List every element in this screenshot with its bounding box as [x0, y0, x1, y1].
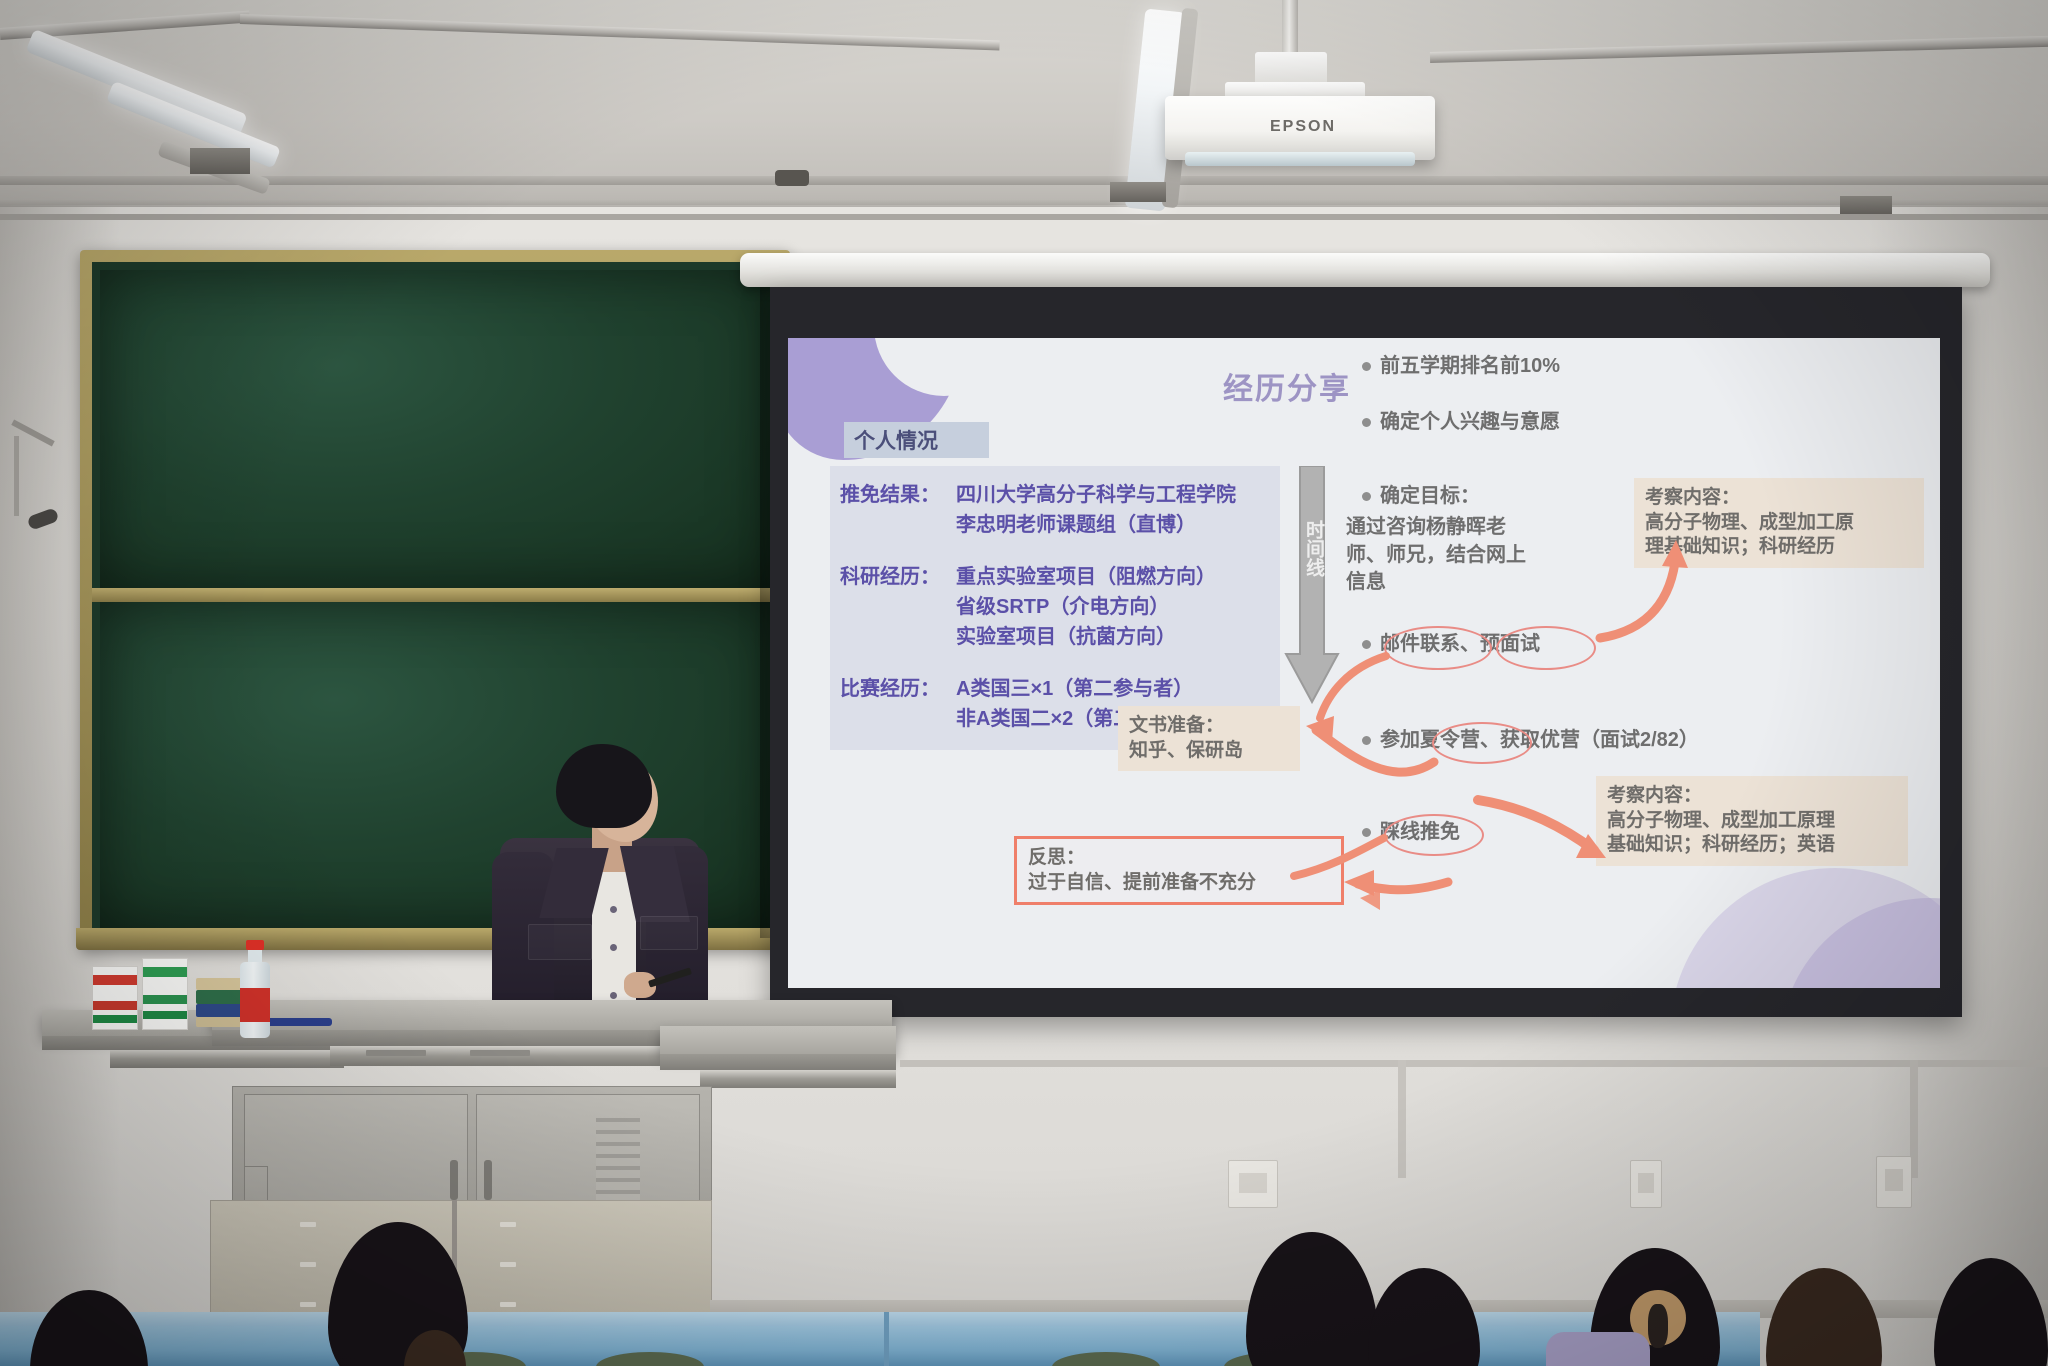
wall-outlet-center[interactable] [1228, 1160, 1278, 1208]
wall-outlet-center-socket [1239, 1173, 1267, 1193]
chalk-box-green-band-mid [143, 995, 187, 1004]
chalk-box-red-band-mid [93, 1001, 137, 1010]
chalk-box-red [92, 966, 138, 1030]
wall-outlet-far-right-socket [1885, 1169, 1903, 1191]
water-bottle [238, 940, 272, 1038]
wall-top-trim [0, 214, 2048, 220]
screen-roller-case [740, 253, 1990, 287]
filing-cabinet-handle-3[interactable] [300, 1302, 316, 1307]
chalk-box-green-band-bot [143, 1011, 187, 1019]
slide-arrows-layer [788, 338, 1940, 988]
filing-cabinet-handle-6[interactable] [500, 1262, 516, 1267]
presenter-hair [556, 744, 652, 828]
podium-slot-a [366, 1050, 426, 1056]
podium-rail-left [110, 1050, 344, 1068]
projector-lens [1185, 152, 1415, 166]
audience-shoulder-purple [1546, 1332, 1650, 1366]
presenter-button-2 [610, 944, 617, 951]
wall-outlet-right[interactable] [1630, 1160, 1662, 1208]
podium-slot-b [470, 1050, 530, 1056]
ceiling-sensor [775, 170, 809, 186]
wall-conduit-vertical [1398, 1060, 1406, 1178]
wall-mic-stem [14, 436, 19, 516]
presenter-button-3 [610, 992, 617, 999]
student-desk-seam [884, 1312, 889, 1366]
podium-rail-right [700, 1070, 896, 1088]
podium-desk-edge-right [660, 1054, 896, 1070]
chalk-box-red-band-bot [93, 1015, 137, 1023]
presenter-pocket-right [640, 916, 698, 950]
student-desk-front [0, 1326, 1760, 1366]
filing-cabinet-handle-2[interactable] [300, 1262, 316, 1267]
light-bracket-a [190, 148, 250, 174]
projector-mount [1255, 52, 1327, 86]
bottle-cap [246, 940, 264, 950]
ceiling-rail-lower [0, 200, 2048, 207]
blackboard-panel-upper [100, 270, 770, 588]
light-bracket-c [1840, 196, 1892, 216]
chalk-box-green [142, 958, 188, 1030]
filing-cabinet-handle-1[interactable] [300, 1222, 316, 1227]
podium-handle-right[interactable] [484, 1160, 492, 1200]
podium-desk-surface-right [660, 1026, 896, 1054]
projector-brand-label: EPSON [1270, 118, 1336, 136]
wall-outlet-far-right[interactable] [1876, 1156, 1912, 1208]
podium-handle-left[interactable] [450, 1160, 458, 1200]
chalk-box-green-band-top [143, 967, 187, 977]
presenter-button-1 [610, 906, 617, 913]
screen-canvas: 经历分享 个人情况 推免结果： 四川大学高分子科学与工程学院 李忠明老师课题组（… [788, 338, 1940, 988]
filing-cabinet-handle-7[interactable] [500, 1302, 516, 1307]
filing-cabinet-handle-5[interactable] [500, 1222, 516, 1227]
wall-conduit-horizontal [900, 1060, 2048, 1067]
classroom-scene: EPSON 经历分享 个人情况 推免结果： 四川大学高分子科学与工程学院 李忠明… [0, 0, 2048, 1366]
presenter-pocket-left [528, 924, 592, 960]
bottle-label [240, 988, 270, 1022]
ceiling-rail-upper [0, 176, 2048, 185]
audience-head-5-clip-dark [1648, 1304, 1668, 1348]
blackboard-divider [92, 588, 778, 602]
light-bracket-b [1110, 182, 1166, 202]
chalk-box-red-band-top [93, 975, 137, 985]
wall-outlet-right-socket [1638, 1173, 1654, 1193]
